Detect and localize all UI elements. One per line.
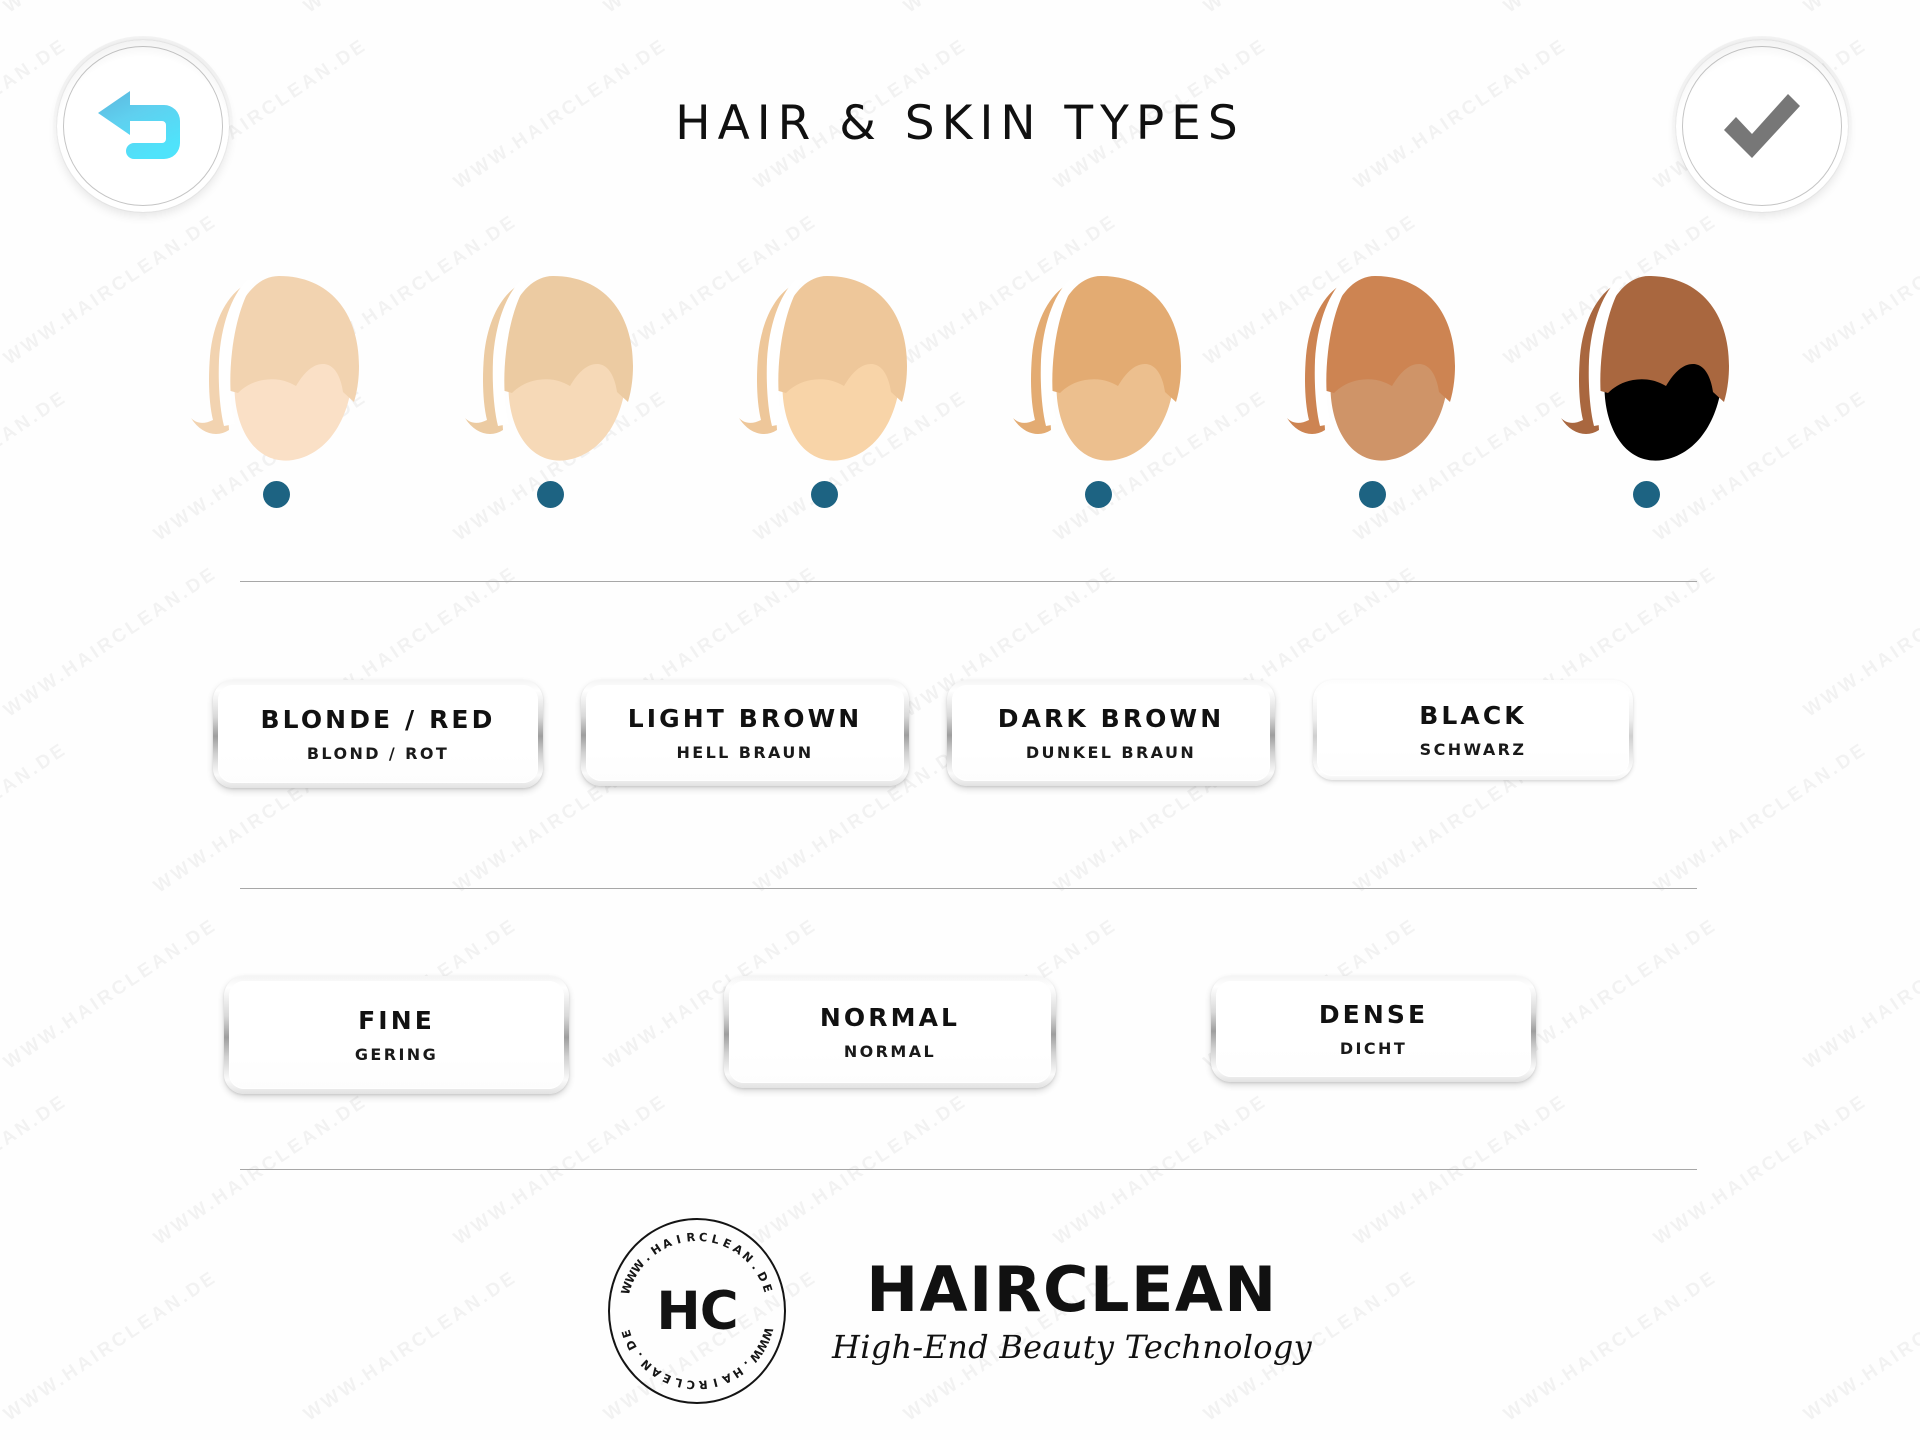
skin-tone-row bbox=[176, 268, 1746, 508]
hair-density-options: FINEGERINGNORMALNORMALDENSEDICHT bbox=[224, 976, 1724, 1094]
head-silhouette-icon bbox=[183, 268, 369, 464]
hair-color-button-blonde-red[interactable]: BLONDE / REDBLOND / ROT bbox=[213, 680, 543, 788]
skin-tone-indicator-dot[interactable] bbox=[537, 481, 564, 508]
head-silhouette-icon bbox=[1279, 268, 1465, 464]
undo-arrow-icon bbox=[94, 80, 192, 172]
button-face: BLONDE / REDBLOND / ROT bbox=[218, 685, 538, 783]
head-silhouette-icon bbox=[1005, 268, 1191, 464]
button-label-de: HELL BRAUN bbox=[676, 745, 813, 761]
watermark-text: WWW.HAIRCLEAN.DE bbox=[900, 0, 1122, 18]
hair-density-button-fine[interactable]: FINEGERING bbox=[224, 976, 569, 1094]
watermark-text: WWW.HAIRCLEAN.DE bbox=[1200, 0, 1422, 18]
brand-name: HAIRCLEAN bbox=[866, 1259, 1277, 1321]
hair-color-button-dark-brown[interactable]: DARK BROWNDUNKEL BRAUN bbox=[947, 680, 1275, 786]
watermark-text: WWW.HAIRCLEAN.DE bbox=[0, 739, 72, 899]
haircleandotde-badge: WWW.HAIRCLEAN.DE WWW.HAIRCLEAN.DE HC bbox=[608, 1218, 786, 1404]
watermark-text: WWW.HAIRCLEAN.DE bbox=[0, 563, 222, 723]
watermark-text: WWW.HAIRCLEAN.DE bbox=[1800, 563, 1920, 723]
divider bbox=[240, 1169, 1697, 1170]
divider bbox=[240, 888, 1697, 889]
head-silhouette-icon bbox=[731, 268, 917, 464]
button-label-de: GERING bbox=[355, 1047, 438, 1063]
skin-tone-option-6[interactable] bbox=[1546, 268, 1746, 508]
skin-tone-option-2[interactable] bbox=[450, 268, 650, 508]
button-label-de: BLOND / ROT bbox=[307, 746, 449, 762]
skin-tone-option-3[interactable] bbox=[724, 268, 924, 508]
watermark-text: WWW.HAIRCLEAN.DE bbox=[600, 0, 822, 18]
watermark-text: WWW.HAIRCLEAN.DE bbox=[1800, 915, 1920, 1075]
watermark-text: WWW.HAIRCLEAN.DE bbox=[0, 0, 222, 18]
button-face: FINEGERING bbox=[229, 981, 564, 1089]
watermark-text: WWW.HAIRCLEAN.DE bbox=[1500, 0, 1722, 18]
button-label-en: DENSE bbox=[1319, 1002, 1428, 1027]
hair-color-button-black[interactable]: BLACKSCHWARZ bbox=[1313, 680, 1633, 780]
watermark-text: WWW.HAIRCLEAN.DE bbox=[1800, 0, 1920, 18]
skin-tone-indicator-dot[interactable] bbox=[1085, 481, 1112, 508]
button-label-en: NORMAL bbox=[820, 1005, 960, 1030]
button-label-en: LIGHT BROWN bbox=[628, 706, 863, 731]
brand-tagline: High-End Beauty Technology bbox=[832, 1331, 1312, 1363]
button-label-en: BLACK bbox=[1419, 703, 1527, 728]
button-face: LIGHT BROWNHELL BRAUN bbox=[586, 685, 904, 781]
skin-tone-indicator-dot[interactable] bbox=[1359, 481, 1386, 508]
brand-wordmark: HAIRCLEAN High-End Beauty Technology bbox=[832, 1259, 1312, 1363]
hair-density-button-dense[interactable]: DENSEDICHT bbox=[1211, 976, 1536, 1082]
hair-color-button-light-brown[interactable]: LIGHT BROWNHELL BRAUN bbox=[581, 680, 909, 786]
button-label-de: DICHT bbox=[1340, 1041, 1407, 1057]
hair-density-button-normal[interactable]: NORMALNORMAL bbox=[724, 976, 1056, 1088]
watermark-text: WWW.HAIRCLEAN.DE bbox=[0, 387, 72, 547]
button-label-de: DUNKEL BRAUN bbox=[1026, 745, 1196, 761]
button-label-en: DARK BROWN bbox=[998, 706, 1224, 731]
skin-tone-option-5[interactable] bbox=[1272, 268, 1472, 508]
confirm-button[interactable] bbox=[1676, 40, 1848, 212]
button-label-de: SCHWARZ bbox=[1420, 742, 1527, 758]
head-silhouette-icon bbox=[1553, 268, 1739, 464]
watermark-text: WWW.HAIRCLEAN.DE bbox=[300, 0, 522, 18]
divider bbox=[240, 581, 1697, 582]
head-silhouette-icon bbox=[457, 268, 643, 464]
button-label-en: BLONDE / RED bbox=[261, 707, 496, 732]
skin-tone-indicator-dot[interactable] bbox=[1633, 481, 1660, 508]
button-face: DENSEDICHT bbox=[1216, 981, 1531, 1077]
footer-logo: WWW.HAIRCLEAN.DE WWW.HAIRCLEAN.DE HC HAI… bbox=[0, 1218, 1920, 1404]
skin-tone-option-4[interactable] bbox=[998, 268, 1198, 508]
button-face: BLACKSCHWARZ bbox=[1317, 684, 1629, 776]
skin-tone-indicator-dot[interactable] bbox=[263, 481, 290, 508]
skin-tone-indicator-dot[interactable] bbox=[811, 481, 838, 508]
watermark-text: WWW.HAIRCLEAN.DE bbox=[0, 915, 222, 1075]
button-label-en: FINE bbox=[358, 1008, 435, 1033]
badge-initials: HC bbox=[608, 1218, 786, 1404]
button-face: NORMALNORMAL bbox=[729, 981, 1051, 1083]
skin-tone-option-1[interactable] bbox=[176, 268, 376, 508]
button-face: DARK BROWNDUNKEL BRAUN bbox=[952, 685, 1270, 781]
hair-color-options: BLONDE / REDBLOND / ROTLIGHT BROWNHELL B… bbox=[213, 680, 1733, 788]
back-button[interactable] bbox=[57, 40, 229, 212]
app-screen: WWW.HAIRCLEAN.DEWWW.HAIRCLEAN.DEWWW.HAIR… bbox=[0, 0, 1920, 1440]
page-title: HAIR & SKIN TYPES bbox=[0, 96, 1920, 151]
checkmark-icon bbox=[1716, 86, 1808, 166]
watermark-text: WWW.HAIRCLEAN.DE bbox=[1800, 211, 1920, 371]
button-label-de: NORMAL bbox=[844, 1044, 936, 1060]
